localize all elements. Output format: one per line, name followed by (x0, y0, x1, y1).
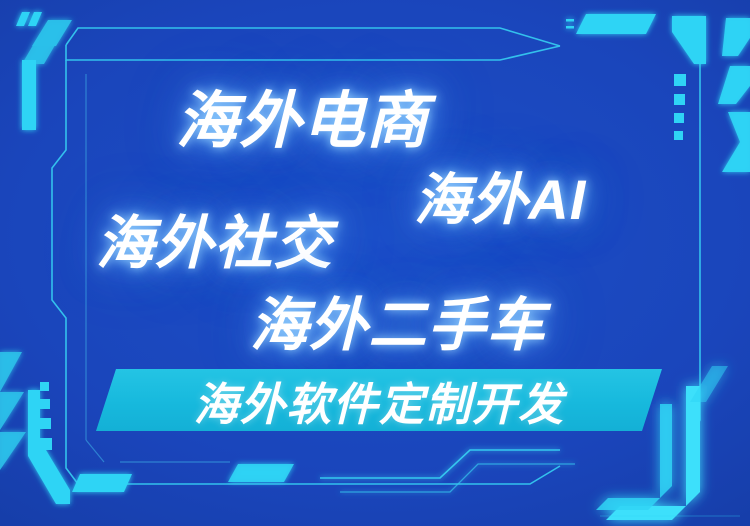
highlight-banner: 海外软件定制开发 (96, 369, 662, 431)
highlight-banner-label: 海外软件定制开发 (96, 369, 662, 431)
headline-overseas-ai: 海外AI (414, 155, 586, 236)
headline-stack: 海外电商 海外AI 海外社交 海外二手车 (0, 0, 750, 526)
headline-overseas-ecommerce: 海外电商 (176, 70, 429, 160)
headline-overseas-social: 海外社交 (96, 196, 333, 280)
promo-banner: 海外电商 海外AI 海外社交 海外二手车 海外软件定制开发 (0, 0, 750, 526)
headline-overseas-used-cars: 海外二手车 (250, 278, 546, 362)
